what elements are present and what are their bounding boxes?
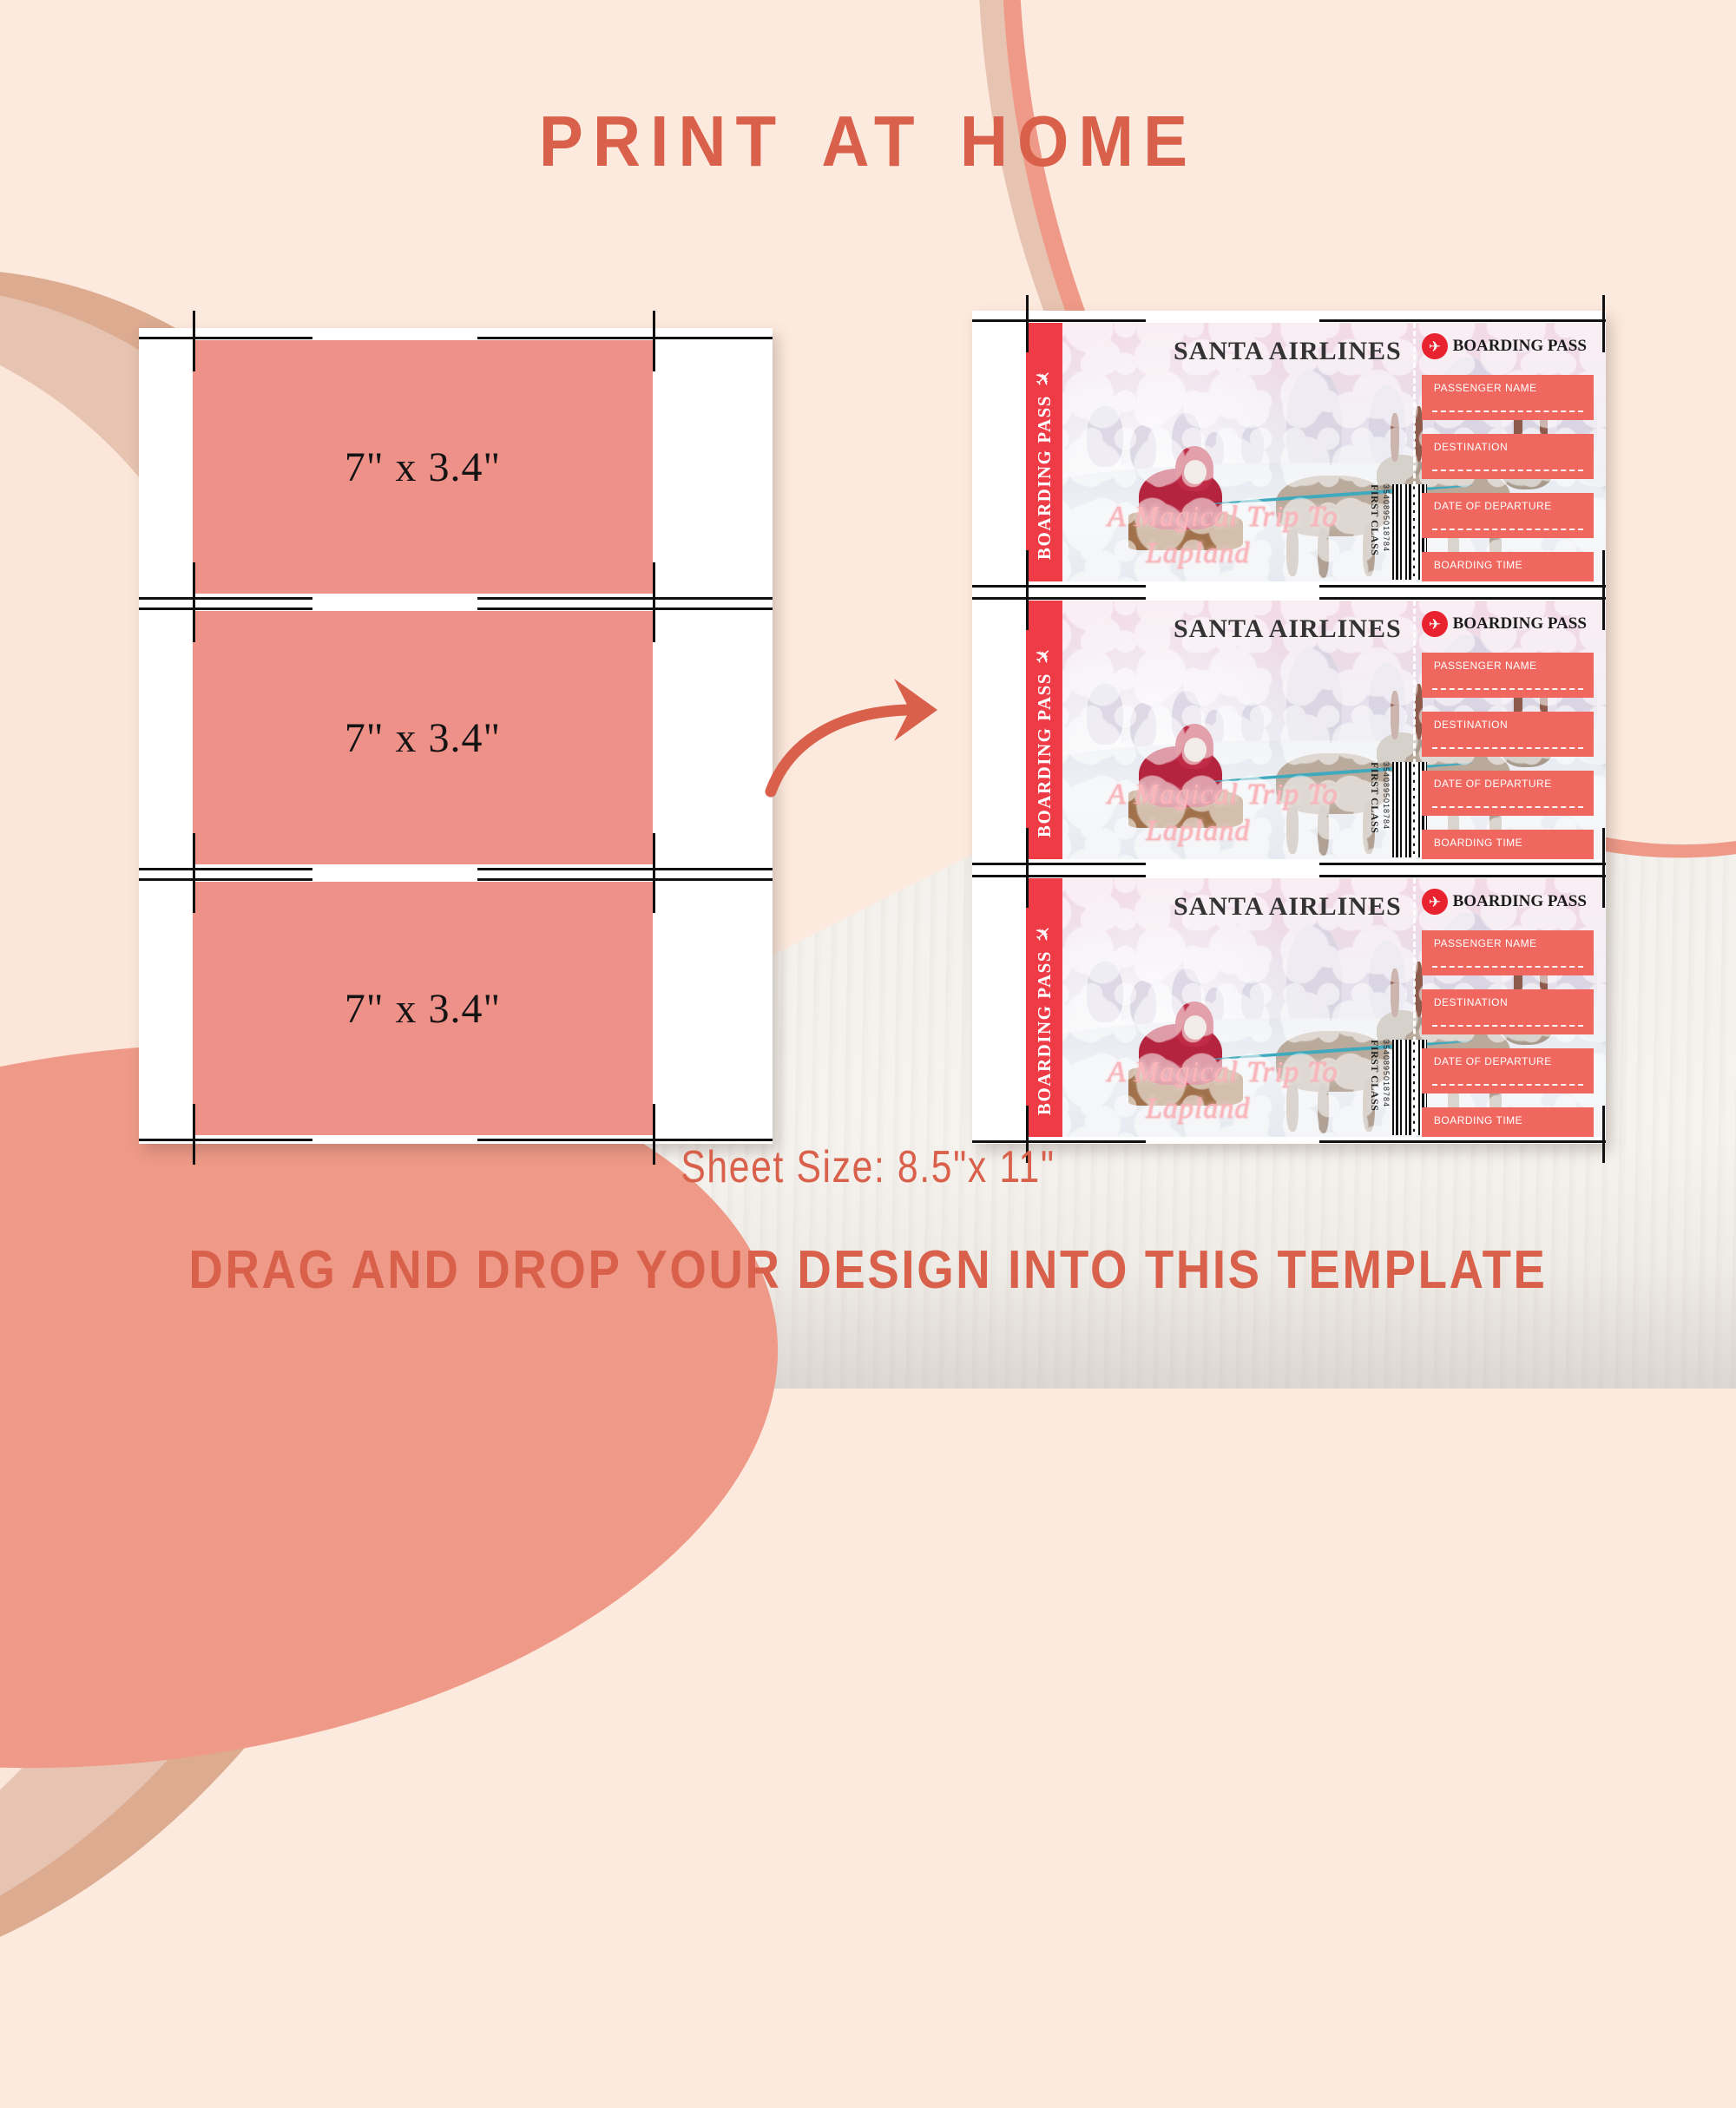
stub-header: ✈BOARDING PASS <box>1422 333 1587 359</box>
boarding-pass-ticket[interactable]: ✈BOARDING PASSSANTA AIRLINESA Magical Tr… <box>1026 601 1606 859</box>
crop-mark <box>477 868 773 870</box>
ticket-field-label: DATE OF DEPARTURE <box>1434 778 1552 790</box>
ticket-field-write-line <box>1432 1084 1583 1086</box>
crop-mark <box>1319 585 1606 588</box>
ticket-field-label: BOARDING TIME <box>1434 559 1522 571</box>
airline-name: SANTA AIRLINES <box>1174 337 1402 366</box>
filled-design-sheet[interactable]: ✈BOARDING PASSSANTA AIRLINESA Magical Tr… <box>972 311 1606 1144</box>
airplane-icon: ✈ <box>1030 644 1057 671</box>
placeholder-size-label: 7" x 3.4" <box>345 714 501 762</box>
crop-mark <box>972 319 1146 322</box>
ticket-field[interactable]: DESTINATION <box>1422 989 1594 1034</box>
ticket-body: SANTA AIRLINESA Magical Trip ToLaplandFI… <box>1062 878 1606 1137</box>
crop-mark <box>1319 597 1606 600</box>
ticket-headline-line1: A Magical Trip To <box>1108 778 1338 811</box>
crop-mark <box>139 337 312 339</box>
ticket-field-write-line <box>1432 1025 1583 1027</box>
boarding-pass-stub: ✈BOARDING PASSPASSENGER NAMEDESTINATIOND… <box>1413 601 1606 859</box>
boarding-pass-side-strip: ✈BOARDING PASS <box>1026 601 1062 859</box>
stub-title: BOARDING PASS <box>1453 614 1587 634</box>
ticket-field[interactable]: BOARDING TIME <box>1422 1107 1594 1137</box>
ticket-field-label: DATE OF DEPARTURE <box>1434 500 1552 512</box>
crop-mark <box>1026 850 1029 908</box>
ticket-field-write-line <box>1432 529 1583 530</box>
barcode-number: 3540895018784 <box>1382 1040 1391 1107</box>
crop-mark <box>1602 573 1605 630</box>
airplane-icon: ✈ <box>1030 366 1057 393</box>
airline-name: SANTA AIRLINES <box>1174 614 1402 644</box>
drag-drop-caption: DRAG AND DROP YOUR DESIGN INTO THIS TEMP… <box>104 1239 1632 1301</box>
design-placeholder-box[interactable]: 7" x 3.4" <box>193 882 653 1135</box>
crop-mark <box>193 581 195 642</box>
side-strip-label: BOARDING PASS <box>1034 395 1055 560</box>
stub-title: BOARDING PASS <box>1453 892 1587 911</box>
crop-mark <box>653 852 655 913</box>
boarding-pass-stub: ✈BOARDING PASSPASSENGER NAMEDESTINATIOND… <box>1413 323 1606 581</box>
ticket-field[interactable]: DESTINATION <box>1422 434 1594 479</box>
boarding-pass-side-strip: ✈BOARDING PASS <box>1026 323 1062 581</box>
crop-mark <box>972 597 1146 600</box>
stub-header: ✈BOARDING PASS <box>1422 889 1587 915</box>
ticket-headline-line1: A Magical Trip To <box>1108 500 1338 534</box>
airplane-icon: ✈ <box>1030 922 1057 949</box>
ticket-field[interactable]: DATE OF DEPARTURE <box>1422 493 1594 538</box>
crop-mark <box>1319 863 1606 865</box>
stub-title: BOARDING PASS <box>1453 337 1587 356</box>
sheet-size-caption: Sheet Size: 8.5"x 11" <box>156 1141 1580 1193</box>
crop-mark <box>139 878 312 881</box>
boarding-pass-ticket[interactable]: ✈BOARDING PASSSANTA AIRLINESA Magical Tr… <box>1026 878 1606 1137</box>
ticket-field[interactable]: BOARDING TIME <box>1422 552 1594 581</box>
ticket-field-label: BOARDING TIME <box>1434 1114 1522 1126</box>
ticket-field-write-line <box>1432 410 1583 412</box>
ticket-field-write-line <box>1432 747 1583 749</box>
crop-mark <box>1026 573 1029 630</box>
fare-class-label: FIRST CLASS <box>1368 484 1381 555</box>
crop-mark <box>972 875 1146 877</box>
ticket-field[interactable]: PASSENGER NAME <box>1422 930 1594 975</box>
crop-mark <box>139 597 312 600</box>
crop-mark <box>477 878 773 881</box>
ticket-body: SANTA AIRLINESA Magical Trip ToLaplandFI… <box>1062 601 1606 859</box>
airplane-badge-icon: ✈ <box>1422 333 1448 359</box>
crop-mark <box>193 852 195 913</box>
ticket-field-label: PASSENGER NAME <box>1434 660 1537 672</box>
crop-mark <box>193 311 195 371</box>
crop-mark <box>1602 295 1605 352</box>
crop-mark <box>653 311 655 371</box>
curved-arrow-right-icon <box>764 660 981 798</box>
crop-mark <box>139 607 312 610</box>
crop-mark <box>1319 319 1606 322</box>
ticket-headline-line2: Lapland <box>1146 536 1250 570</box>
ticket-headline-line1: A Magical Trip To <box>1108 1055 1338 1089</box>
ticket-field[interactable]: BOARDING TIME <box>1422 830 1594 859</box>
placeholder-size-label: 7" x 3.4" <box>345 443 501 491</box>
ticket-field-label: DESTINATION <box>1434 996 1508 1008</box>
ticket-field[interactable]: DATE OF DEPARTURE <box>1422 771 1594 816</box>
fare-class-label: FIRST CLASS <box>1368 762 1381 833</box>
ticket-field-label: PASSENGER NAME <box>1434 937 1537 949</box>
airline-name: SANTA AIRLINES <box>1174 892 1402 922</box>
ticket-headline-line2: Lapland <box>1146 814 1250 848</box>
crop-mark <box>477 607 773 610</box>
side-strip-label: BOARDING PASS <box>1034 950 1055 1115</box>
crop-mark <box>477 597 773 600</box>
crop-mark <box>653 581 655 642</box>
ticket-field-label: PASSENGER NAME <box>1434 382 1537 394</box>
design-placeholder-box[interactable]: 7" x 3.4" <box>193 611 653 864</box>
crop-mark <box>972 585 1146 588</box>
ticket-field-write-line <box>1432 966 1583 968</box>
airplane-badge-icon: ✈ <box>1422 611 1448 637</box>
ticket-field-write-line <box>1432 688 1583 690</box>
boarding-pass-stub: ✈BOARDING PASSPASSENGER NAMEDESTINATIOND… <box>1413 878 1606 1137</box>
crop-mark <box>1602 850 1605 908</box>
crop-mark <box>1026 295 1029 352</box>
ticket-field[interactable]: DATE OF DEPARTURE <box>1422 1048 1594 1093</box>
crop-mark <box>477 337 773 339</box>
page-title: Print at home <box>69 80 1667 182</box>
ticket-body: SANTA AIRLINESA Magical Trip ToLaplandFI… <box>1062 323 1606 581</box>
crop-mark <box>1602 1106 1605 1163</box>
ticket-headline-line2: Lapland <box>1146 1092 1250 1126</box>
boarding-pass-ticket[interactable]: ✈BOARDING PASSSANTA AIRLINESA Magical Tr… <box>1026 323 1606 581</box>
ticket-field[interactable]: PASSENGER NAME <box>1422 653 1594 698</box>
crop-mark <box>139 868 312 870</box>
barcode-number: 3540895018784 <box>1382 762 1391 830</box>
crop-mark <box>972 863 1146 865</box>
design-placeholder-box[interactable]: 7" x 3.4" <box>193 340 653 594</box>
barcode-number: 3540895018784 <box>1382 484 1391 552</box>
ticket-field-label: DESTINATION <box>1434 719 1508 731</box>
side-strip-label: BOARDING PASS <box>1034 673 1055 837</box>
ticket-field[interactable]: DESTINATION <box>1422 712 1594 757</box>
stub-header: ✈BOARDING PASS <box>1422 611 1587 637</box>
ticket-field-label: DATE OF DEPARTURE <box>1434 1055 1552 1067</box>
airplane-badge-icon: ✈ <box>1422 889 1448 915</box>
ticket-field-label: DESTINATION <box>1434 441 1508 453</box>
ticket-field[interactable]: PASSENGER NAME <box>1422 375 1594 420</box>
crop-mark <box>1319 875 1606 877</box>
ticket-field-write-line <box>1432 806 1583 808</box>
ticket-field-write-line <box>1432 470 1583 471</box>
blank-template-sheet[interactable]: 7" x 3.4"7" x 3.4"7" x 3.4" <box>139 328 773 1144</box>
ticket-field-label: BOARDING TIME <box>1434 837 1522 849</box>
boarding-pass-side-strip: ✈BOARDING PASS <box>1026 878 1062 1137</box>
placeholder-size-label: 7" x 3.4" <box>345 985 501 1033</box>
fare-class-label: FIRST CLASS <box>1368 1040 1381 1111</box>
